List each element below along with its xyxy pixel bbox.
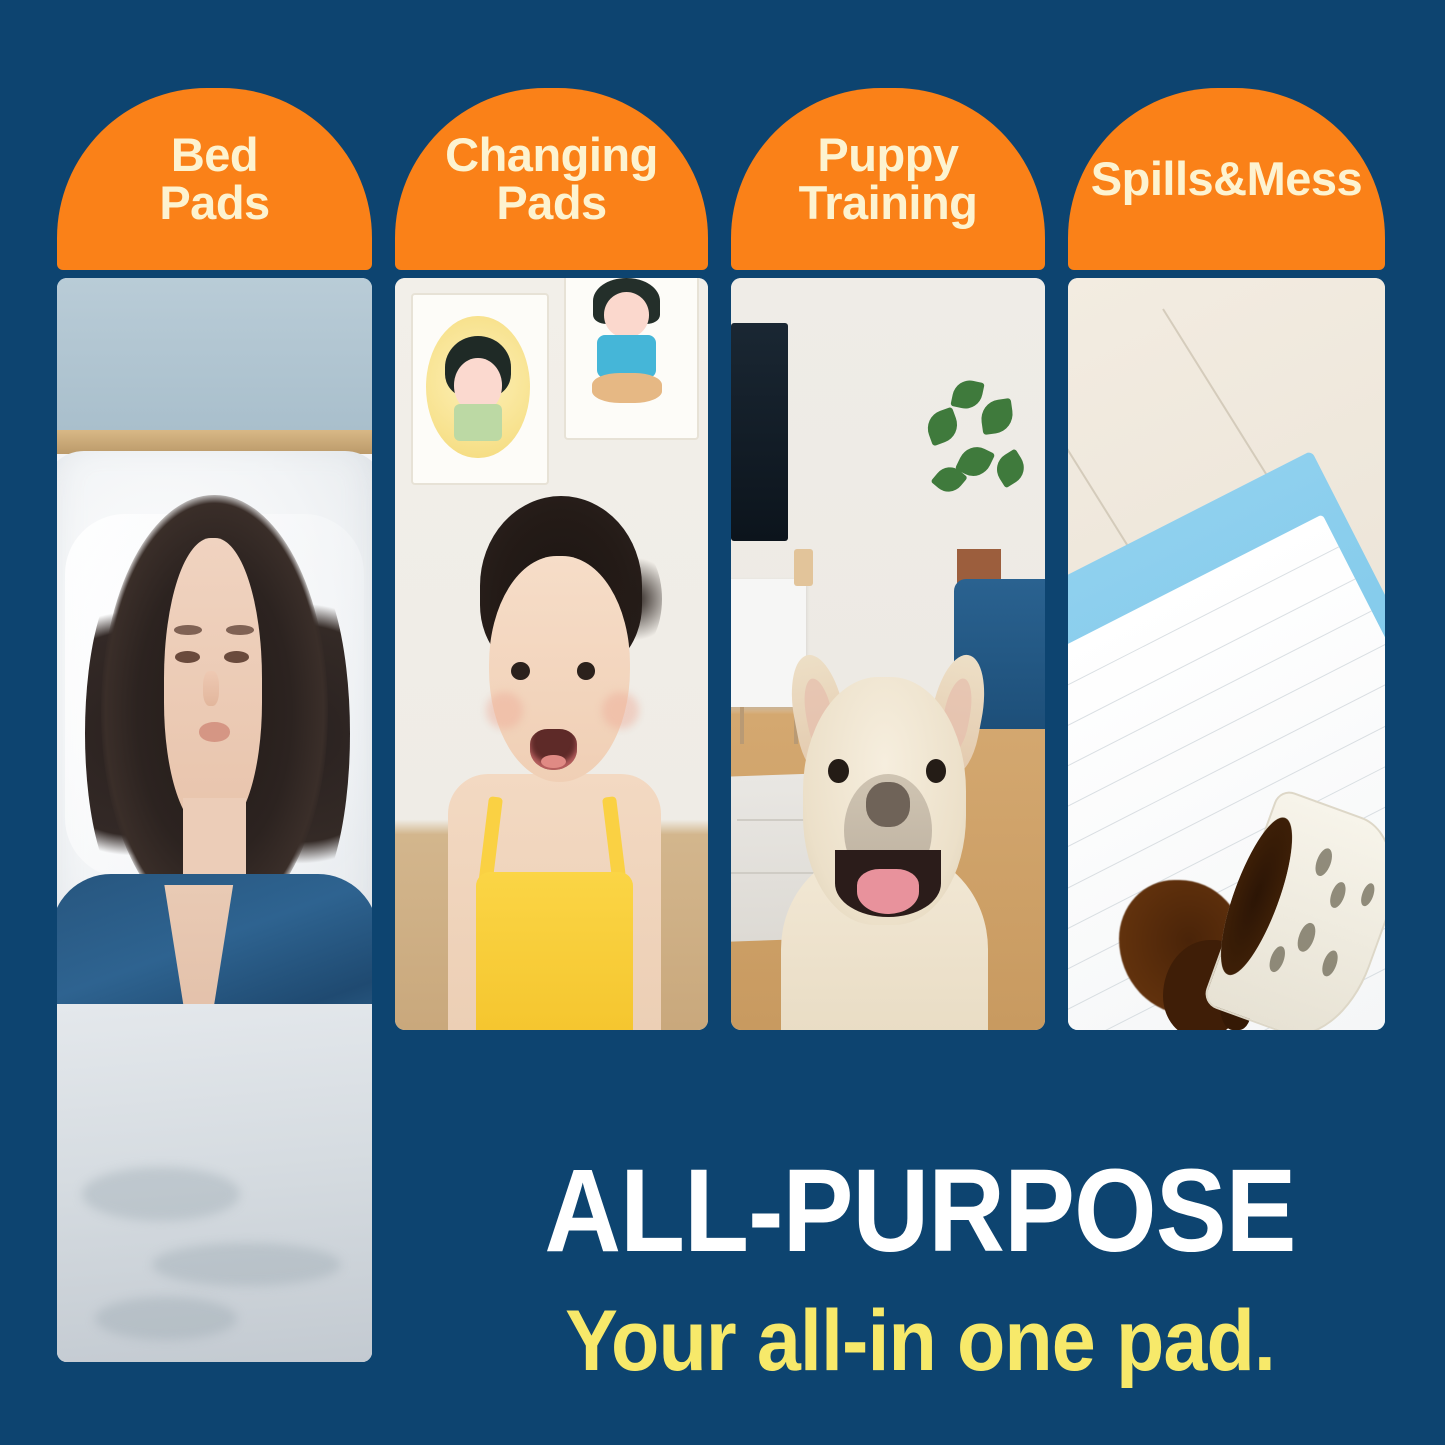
header-photo-gap — [395, 270, 708, 278]
product-infographic: { "background_color": "#0d4470", "accent… — [0, 0, 1445, 1445]
photo-spilled-coffee-mug-on-pad — [1068, 278, 1385, 1030]
subheadline-tagline: Your all-in one pad. — [465, 1298, 1376, 1384]
header-photo-gap — [1068, 270, 1385, 278]
header-photo-gap — [731, 270, 1045, 278]
panel-header-puppy-training: Puppy Training — [731, 88, 1045, 270]
panel-puppy-training: Puppy Training — [731, 88, 1045, 1030]
panel-label-bed-pads: Bed Pads — [159, 131, 269, 227]
photo-smiling-baby-on-changing-pad — [395, 278, 708, 1030]
photo-french-bulldog-on-training-pad — [731, 278, 1045, 1030]
panel-header-spills-and-mess: Spills&Mess — [1068, 88, 1385, 270]
headline-block: ALL-PURPOSE Your all-in one pad. — [425, 1152, 1415, 1384]
panel-label-spills-and-mess: Spills&Mess — [1068, 155, 1385, 203]
panel-label-puppy-training: Puppy Training — [799, 131, 978, 227]
header-photo-gap — [57, 270, 372, 278]
panel-header-bed-pads: Bed Pads — [57, 88, 372, 270]
panel-changing-pads: Changing Pads — [395, 88, 708, 1030]
headline-all-purpose: ALL-PURPOSE — [475, 1152, 1366, 1270]
panel-label-changing-pads: Changing Pads — [395, 131, 708, 227]
panel-bed-pads: Bed Pads — [57, 88, 372, 1362]
panel-header-changing-pads: Changing Pads — [395, 88, 708, 270]
panel-spills-and-mess: Spills&Mess — [1068, 88, 1385, 1030]
photo-woman-sleeping-in-bed — [57, 278, 372, 1362]
